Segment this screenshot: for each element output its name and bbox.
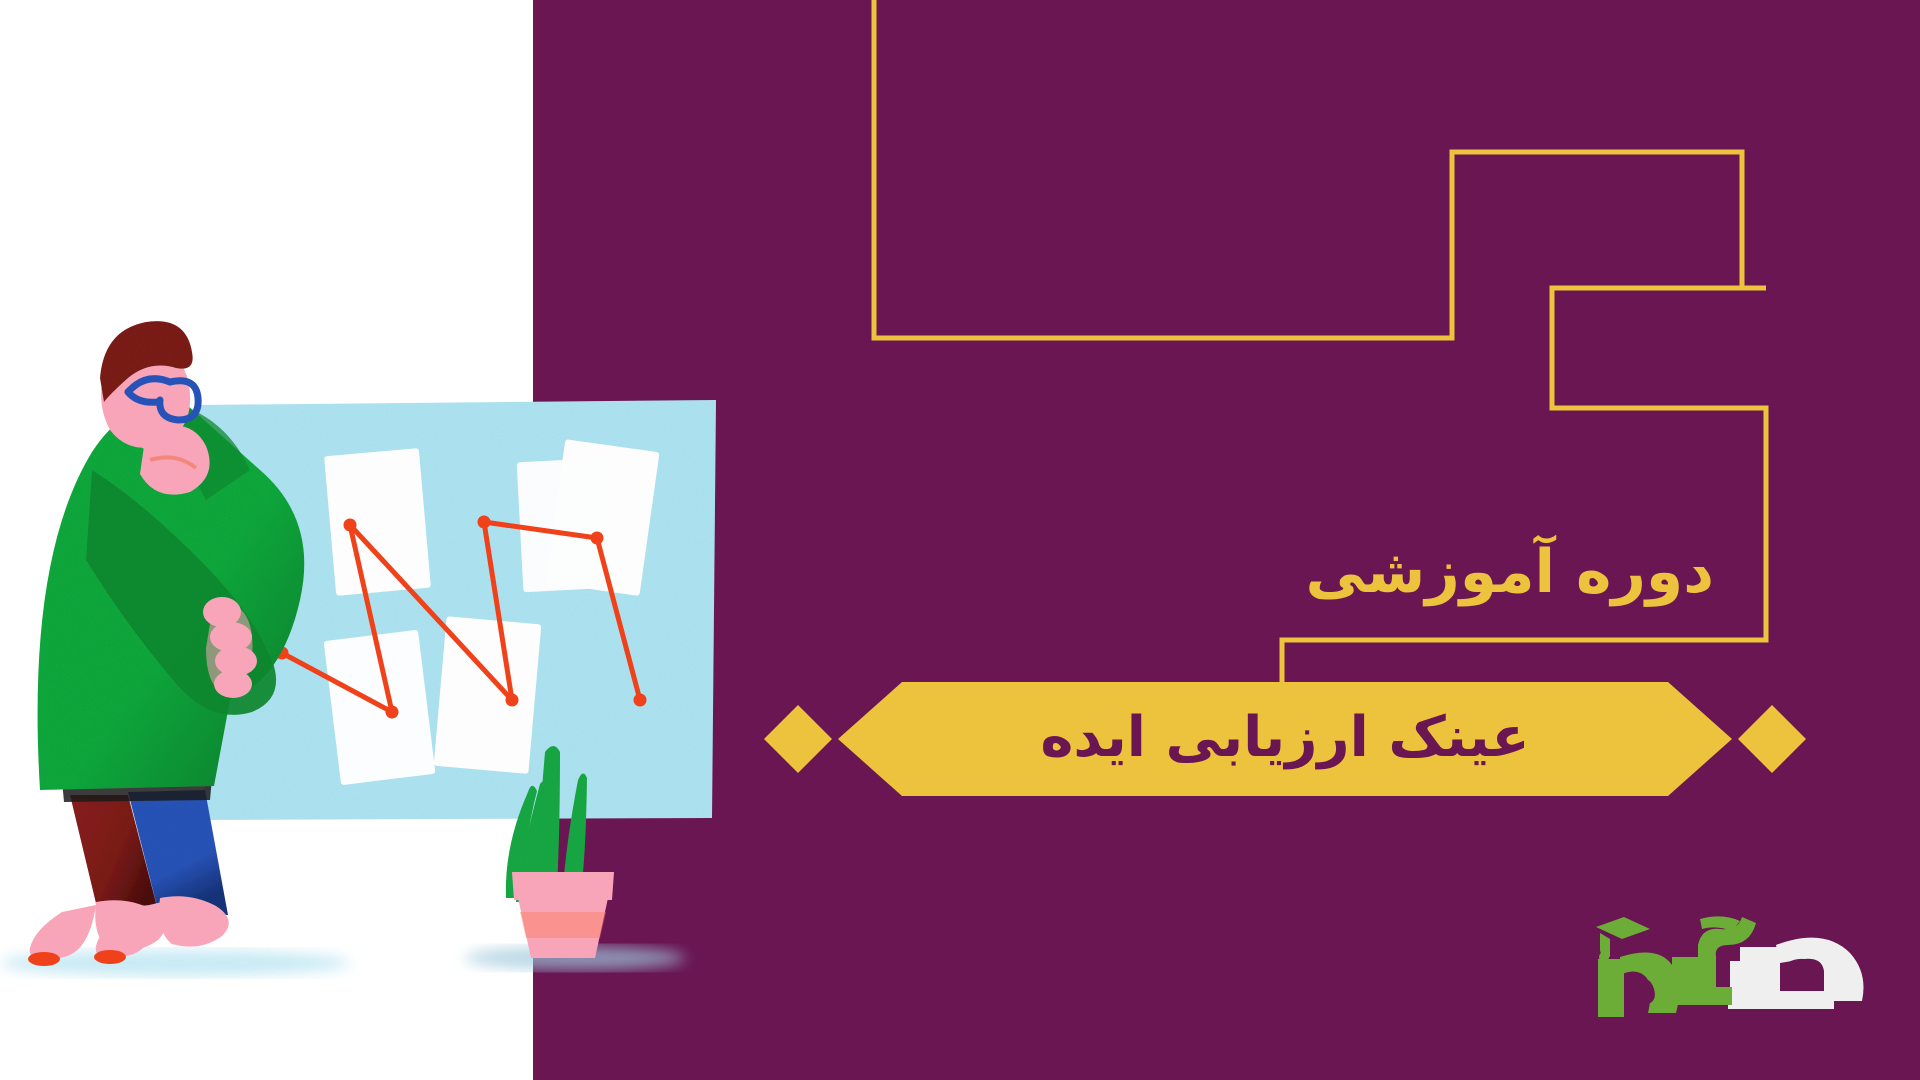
eyebrow-heading: دوره آموزشی (1180, 524, 1732, 620)
board-card (434, 616, 542, 774)
board-card (517, 458, 614, 593)
poster-canvas: دوره آموزشی عینک ارزیابی ایده (0, 0, 1920, 1080)
plant-pot (512, 872, 614, 958)
brand-logo: هم‌آموز (1580, 905, 1870, 1035)
banner-title: عینک ارزیابی ایده (760, 676, 1810, 802)
logo-part-white (1728, 938, 1864, 1009)
board-card (324, 448, 431, 596)
title-ribbon: عینک ارزیابی ایده (760, 676, 1810, 802)
illustration-group (0, 0, 900, 1080)
